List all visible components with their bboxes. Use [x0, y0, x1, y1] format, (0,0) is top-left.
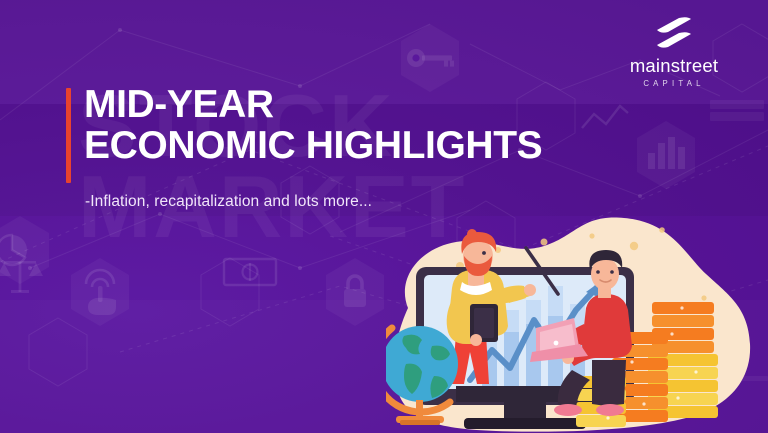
- subtitle: -Inflation, recapitalization and lots mo…: [66, 193, 372, 211]
- presenter-hand-left: [470, 334, 482, 346]
- brand-tagline: CAPITAL: [608, 80, 740, 88]
- headline-block: MID-YEAR ECONOMIC HIGHLIGHTS: [66, 86, 626, 165]
- title-line-2: ECONOMIC HIGHLIGHTS: [84, 127, 626, 166]
- brand-logo[interactable]: mainstreet CAPITAL: [608, 16, 740, 87]
- economic-growth-presentation-illustration: [386, 212, 768, 433]
- page-title: MID-YEAR ECONOMIC HIGHLIGHTS: [66, 86, 626, 165]
- mid-year-economic-highlights-banner: STOCK MARKET mainstreet CAPITAL MID-YEAR…: [0, 0, 768, 433]
- presenter-hand-right: [524, 284, 536, 296]
- title-line-1: MID-YEAR: [84, 86, 626, 125]
- accent-bar: [66, 88, 71, 183]
- brand-name: mainstreet: [608, 57, 740, 76]
- mainstreet-double-parallelogram-mark: [651, 16, 697, 52]
- dollar-bill-icon: [224, 259, 276, 285]
- shoe-left: [554, 404, 582, 416]
- shoe-right: [596, 404, 624, 416]
